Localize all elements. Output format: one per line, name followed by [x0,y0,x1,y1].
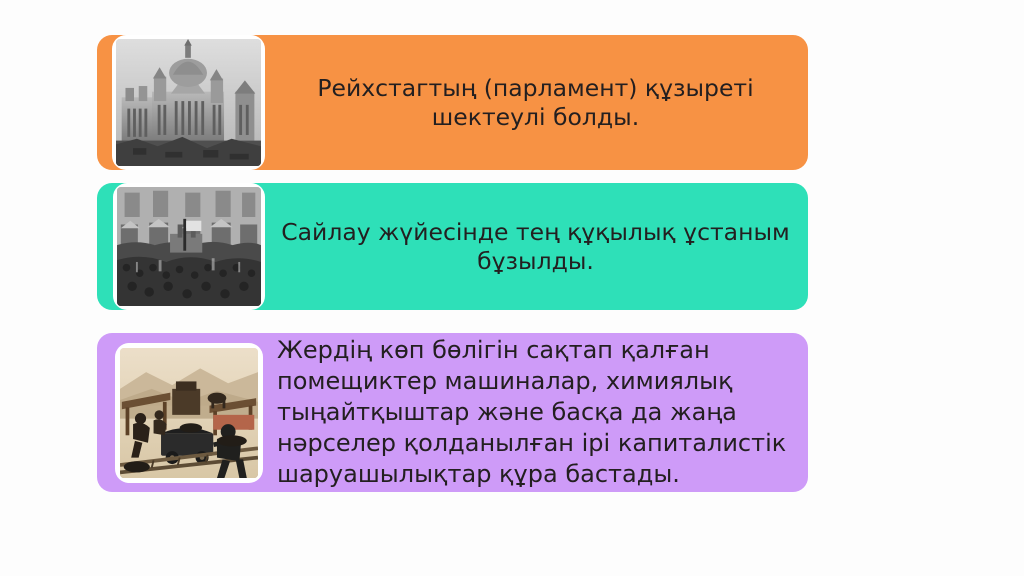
thumbnail-frame[interactable] [113,183,265,310]
thumbnail-frame[interactable] [115,343,263,483]
content-row-reichstag[interactable]: Рейхстагтың (парламент) құзыреті шектеул… [97,35,808,170]
row-text-reichstag: Рейхстагтың (парламент) құзыреті шектеул… [265,74,808,131]
crowd-assembly-photo [117,187,261,306]
content-rows: Рейхстагтың (парламент) құзыреті шектеул… [97,35,808,492]
content-row-election[interactable]: Сайлау жүйесінде тең құқылық ұстаным бұз… [97,183,808,310]
row-text-election: Сайлау жүйесінде тең құқылық ұстаным бұз… [265,218,808,275]
row-text-landowners: Жердің көп бөлігін сақтап қалған помещик… [263,335,808,491]
thumbnail-frame[interactable] [112,35,265,170]
slide-canvas: Рейхстагтың (парламент) құзыреті шектеул… [0,0,1024,576]
labour-illustration [120,348,258,478]
reichstag-building-photo [116,39,261,166]
content-row-landowners[interactable]: Жердің көп бөлігін сақтап қалған помещик… [97,333,808,492]
